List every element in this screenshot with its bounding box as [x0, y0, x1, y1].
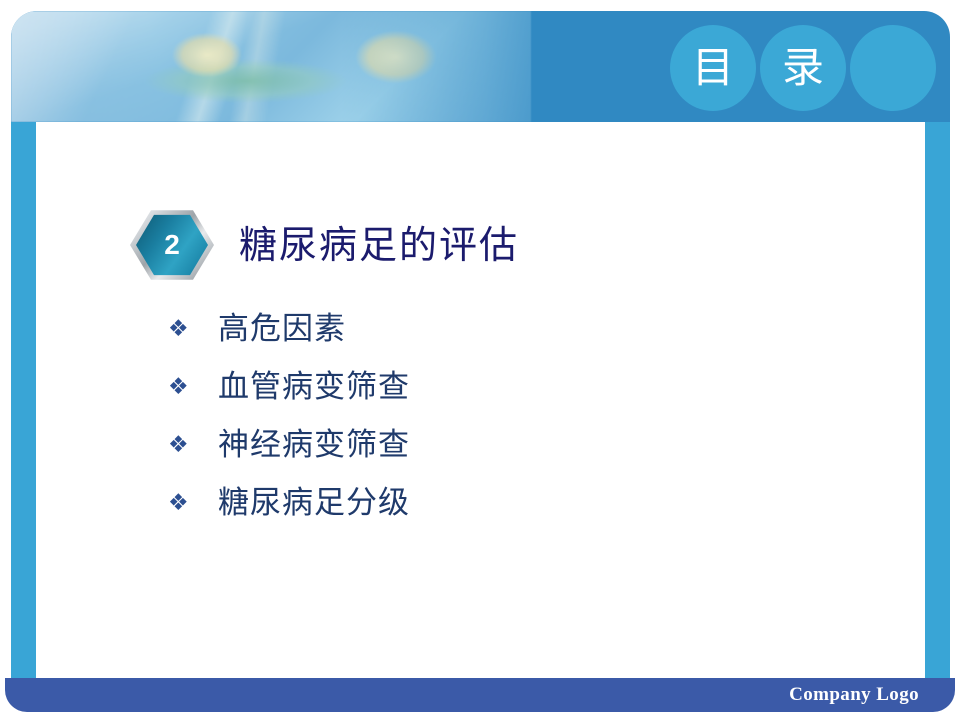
- list-item[interactable]: ❖ 血管病变筛查: [168, 358, 788, 416]
- list-item[interactable]: ❖ 神经病变筛查: [168, 416, 788, 474]
- presentation-slide: 目 录 2 糖尿病足的评估 ❖ 高危因素: [0, 0, 960, 720]
- section-heading-row: 2 糖尿病足的评估: [130, 208, 519, 282]
- agenda-bullet-list: ❖ 高危因素 ❖ 血管病变筛查 ❖ 神经病变筛查 ❖ 糖尿病足分级: [168, 300, 788, 532]
- diamond-bullet-icon: ❖: [168, 318, 202, 341]
- right-accent-bar: [925, 122, 950, 679]
- slide-header-band: 目 录: [11, 11, 950, 122]
- title-char-2: 录: [782, 47, 824, 89]
- slide-content-panel: 2 糖尿病足的评估 ❖ 高危因素 ❖ 血管病变筛查 ❖ 神经病变筛查 ❖ 糖尿病…: [36, 128, 925, 678]
- list-item-label: 糖尿病足分级: [202, 488, 410, 519]
- section-heading-title: 糖尿病足的评估: [239, 226, 519, 264]
- list-item[interactable]: ❖ 糖尿病足分级: [168, 474, 788, 532]
- title-char-1: 目: [692, 47, 734, 89]
- photo-fade-overlay: [341, 11, 661, 122]
- title-circle-2: 录: [760, 25, 846, 111]
- list-item-label: 高危因素: [202, 314, 346, 345]
- company-logo-text: Company Logo: [789, 684, 919, 706]
- diamond-bullet-icon: ❖: [168, 376, 202, 399]
- section-number: 2: [130, 208, 214, 282]
- slide-footer-bar: Company Logo: [5, 678, 955, 712]
- list-item[interactable]: ❖ 高危因素: [168, 300, 788, 358]
- title-circle-1: 目: [670, 25, 756, 111]
- list-item-label: 神经病变筛查: [202, 430, 410, 461]
- diamond-bullet-icon: ❖: [168, 434, 202, 457]
- list-item-label: 血管病变筛查: [202, 372, 410, 403]
- slide-title-circles: 目 录: [670, 25, 936, 111]
- left-accent-bar: [11, 122, 36, 679]
- diamond-bullet-icon: ❖: [168, 492, 202, 515]
- title-circle-3-decorative: [850, 25, 936, 111]
- hexagon-number-badge: 2: [130, 208, 214, 282]
